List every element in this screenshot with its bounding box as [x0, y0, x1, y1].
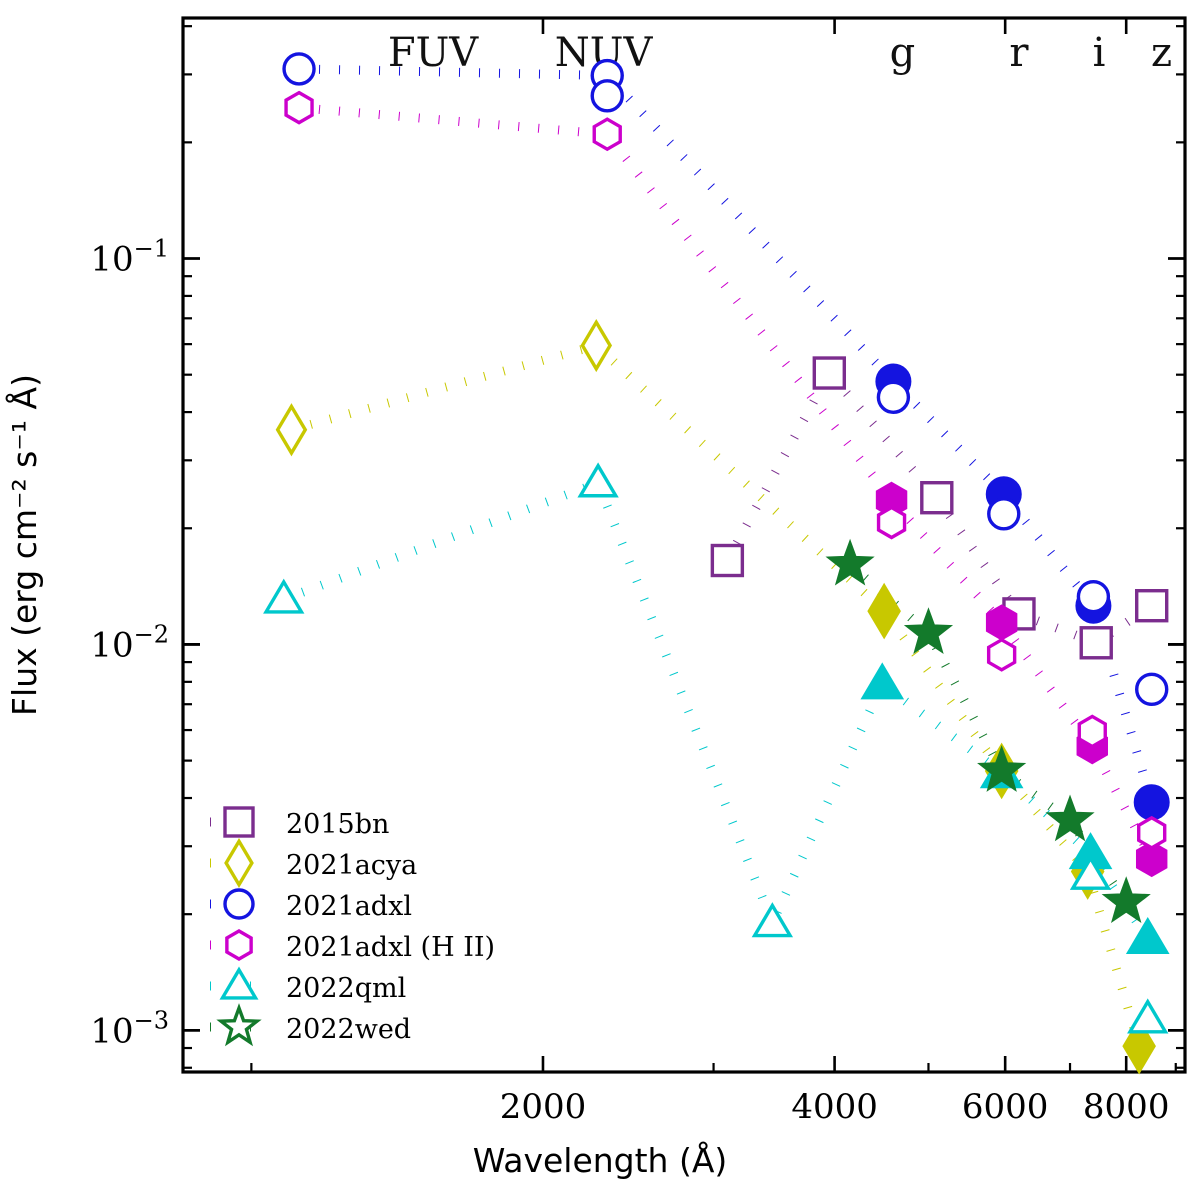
x-tick-label: 4000 [791, 1087, 878, 1127]
data-point-2021adxl-g_open [878, 382, 908, 412]
data-point-2022wed-i [1048, 797, 1092, 839]
band-label-fuv: FUV [388, 30, 479, 76]
legend-label: 2022wed [286, 1014, 411, 1045]
data-point-2021acya-g [869, 585, 900, 638]
data-point-2021adxl--h-ii--z_open [1139, 818, 1165, 848]
data-point-2021acya-FUV [278, 407, 306, 454]
legend-marker-circle [225, 890, 253, 918]
y-tick-label: 10−2 [90, 620, 169, 665]
x-tick-label: 6000 [962, 1087, 1049, 1127]
data-point-2022wed-g [828, 542, 872, 584]
data-point-2021adxl-z [1135, 785, 1169, 819]
data-point-2015bn-i [1081, 628, 1111, 658]
data-point-2021adxl--h-ii--r_open [989, 640, 1015, 670]
band-label-z: z [1151, 30, 1172, 76]
legend-label: 2015bn [286, 809, 389, 840]
series-line-2021adxl [299, 69, 1152, 802]
data-point-2022qml-z_open [1130, 1002, 1165, 1032]
legend-label: 2021acya [286, 850, 417, 881]
data-point-2022wed-r0 [907, 610, 951, 652]
x-tick-label: 8000 [1083, 1087, 1170, 1127]
data-point-2021adxl-i_open [1078, 582, 1108, 612]
legend-marker-diamond [226, 841, 252, 884]
x-tick-label: 2000 [500, 1087, 587, 1127]
y-axis-title: Flux (erg cm⁻² s⁻¹ Å) [4, 374, 44, 716]
band-label-i: i [1093, 30, 1106, 76]
data-point-2015bn-z [1137, 591, 1167, 621]
x-axis-title: Wavelength (Å) [473, 1140, 728, 1180]
data-point-2022qml-NUV [580, 466, 615, 496]
data-point-2022wed-z [1104, 879, 1148, 921]
data-point-2021adxl--h-ii--r [987, 605, 1016, 639]
legend-label: 2021adxl [286, 891, 412, 922]
data-point-2021adxl--h-ii--g_open [879, 508, 905, 538]
data-point-2022qml-z [1128, 919, 1168, 953]
data-point-2021adxl-FUV [284, 54, 314, 84]
band-label-g: g [890, 30, 916, 76]
y-tick-label: 10−3 [90, 1006, 169, 1051]
data-point-2021adxl-NUV2 [592, 81, 622, 111]
figure-canvas: 200040006000800010−110−210−3Wavelength (… [0, 0, 1200, 1198]
data-point-2022qml-u [755, 906, 790, 936]
data-point-2015bn-NUV [712, 546, 742, 576]
legend-marker-square [225, 808, 253, 836]
legend-label: 2021adxl (H II) [286, 932, 495, 963]
y-tick-label: 10−1 [90, 235, 169, 280]
data-point-2021adxl-r_open [989, 499, 1019, 529]
data-point-2022qml-g [862, 664, 902, 698]
data-point-2021acya-NUV [582, 322, 610, 369]
data-point-2022qml-FUV [266, 582, 301, 612]
data-point-2015bn-u [814, 358, 844, 388]
data-point-2021adxl-z_open [1137, 674, 1167, 704]
legend-marker-star [221, 1008, 257, 1042]
data-point-2021adxl--h-ii--FUV [286, 93, 312, 123]
series-line-2021adxl--h-ii- [299, 108, 1152, 859]
legend-label: 2022qml [286, 973, 406, 1004]
data-point-2021adxl--h-ii--NUV [594, 119, 620, 149]
band-label-r: r [1009, 30, 1029, 76]
data-point-2015bn-g [922, 483, 952, 513]
data-point-2021adxl--h-ii--i_open [1079, 716, 1105, 746]
sed-scatter-plot: 200040006000800010−110−210−3Wavelength (… [0, 0, 1200, 1198]
legend-marker-hexagon [227, 931, 251, 959]
